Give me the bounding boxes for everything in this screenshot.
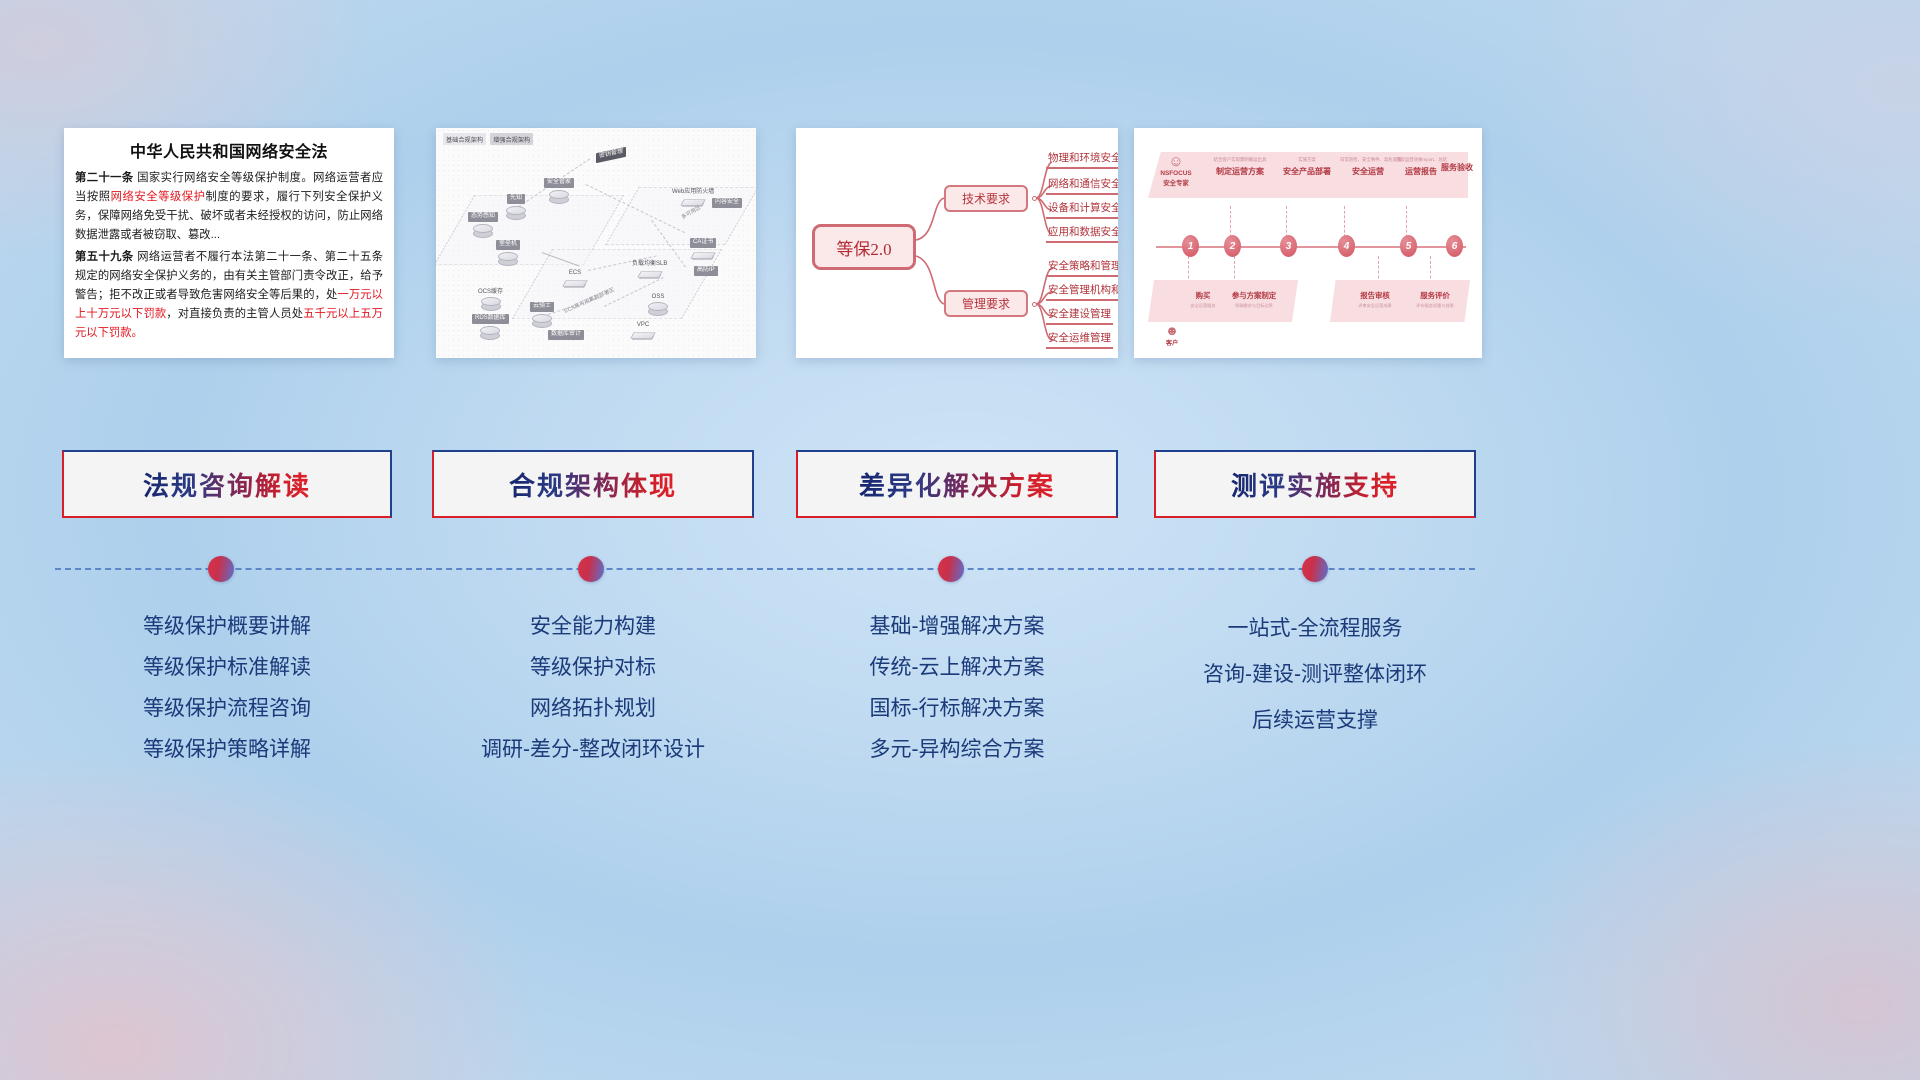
timeline-marker-1[interactable]	[208, 556, 234, 582]
section-list-4: 一站式-全流程服务 咨询-建设-测评整体闭环 后续运营支撑	[1154, 606, 1476, 744]
timeline-marker-2[interactable]	[578, 556, 604, 582]
list-item: 国标-行标解决方案	[796, 688, 1118, 729]
section-headers: 法规咨询解读 合规架构体现 差异化解决方案 测评实施支持	[0, 0, 1920, 1080]
section-header-1-title: 法规咨询解读	[143, 466, 311, 503]
slide-canvas: 中华人民共和国网络安全法 第二十一条 国家实行网络安全等级保护制度。网络运营者应…	[0, 0, 1920, 1080]
section-header-3[interactable]: 差异化解决方案	[796, 450, 1118, 518]
list-item: 等级保护标准解读	[62, 647, 392, 688]
section-list-1: 等级保护概要讲解 等级保护标准解读 等级保护流程咨询 等级保护策略详解	[62, 606, 392, 770]
section-header-4-title: 测评实施支持	[1231, 466, 1399, 503]
section-header-1[interactable]: 法规咨询解读	[62, 450, 392, 518]
list-item: 一站式-全流程服务	[1154, 606, 1476, 652]
list-item: 调研-差分-整改闭环设计	[432, 729, 754, 770]
list-item: 后续运营支撑	[1154, 698, 1476, 744]
section-list-2: 安全能力构建 等级保护对标 网络拓扑规划 调研-差分-整改闭环设计	[432, 606, 754, 770]
list-item: 咨询-建设-测评整体闭环	[1154, 652, 1476, 698]
list-item: 等级保护策略详解	[62, 729, 392, 770]
list-item: 安全能力构建	[432, 606, 754, 647]
list-item: 传统-云上解决方案	[796, 647, 1118, 688]
list-item: 等级保护对标	[432, 647, 754, 688]
section-header-2[interactable]: 合规架构体现	[432, 450, 754, 518]
list-item: 网络拓扑规划	[432, 688, 754, 729]
list-item: 多元-异构综合方案	[796, 729, 1118, 770]
section-header-3-title: 差异化解决方案	[859, 466, 1055, 503]
list-item: 等级保护概要讲解	[62, 606, 392, 647]
timeline-marker-4[interactable]	[1302, 556, 1328, 582]
timeline-marker-3[interactable]	[938, 556, 964, 582]
timeline-dashed-line	[55, 568, 1475, 570]
list-item: 基础-增强解决方案	[796, 606, 1118, 647]
section-header-4[interactable]: 测评实施支持	[1154, 450, 1476, 518]
list-item: 等级保护流程咨询	[62, 688, 392, 729]
section-list-3: 基础-增强解决方案 传统-云上解决方案 国标-行标解决方案 多元-异构综合方案	[796, 606, 1118, 770]
section-header-2-title: 合规架构体现	[509, 466, 677, 503]
